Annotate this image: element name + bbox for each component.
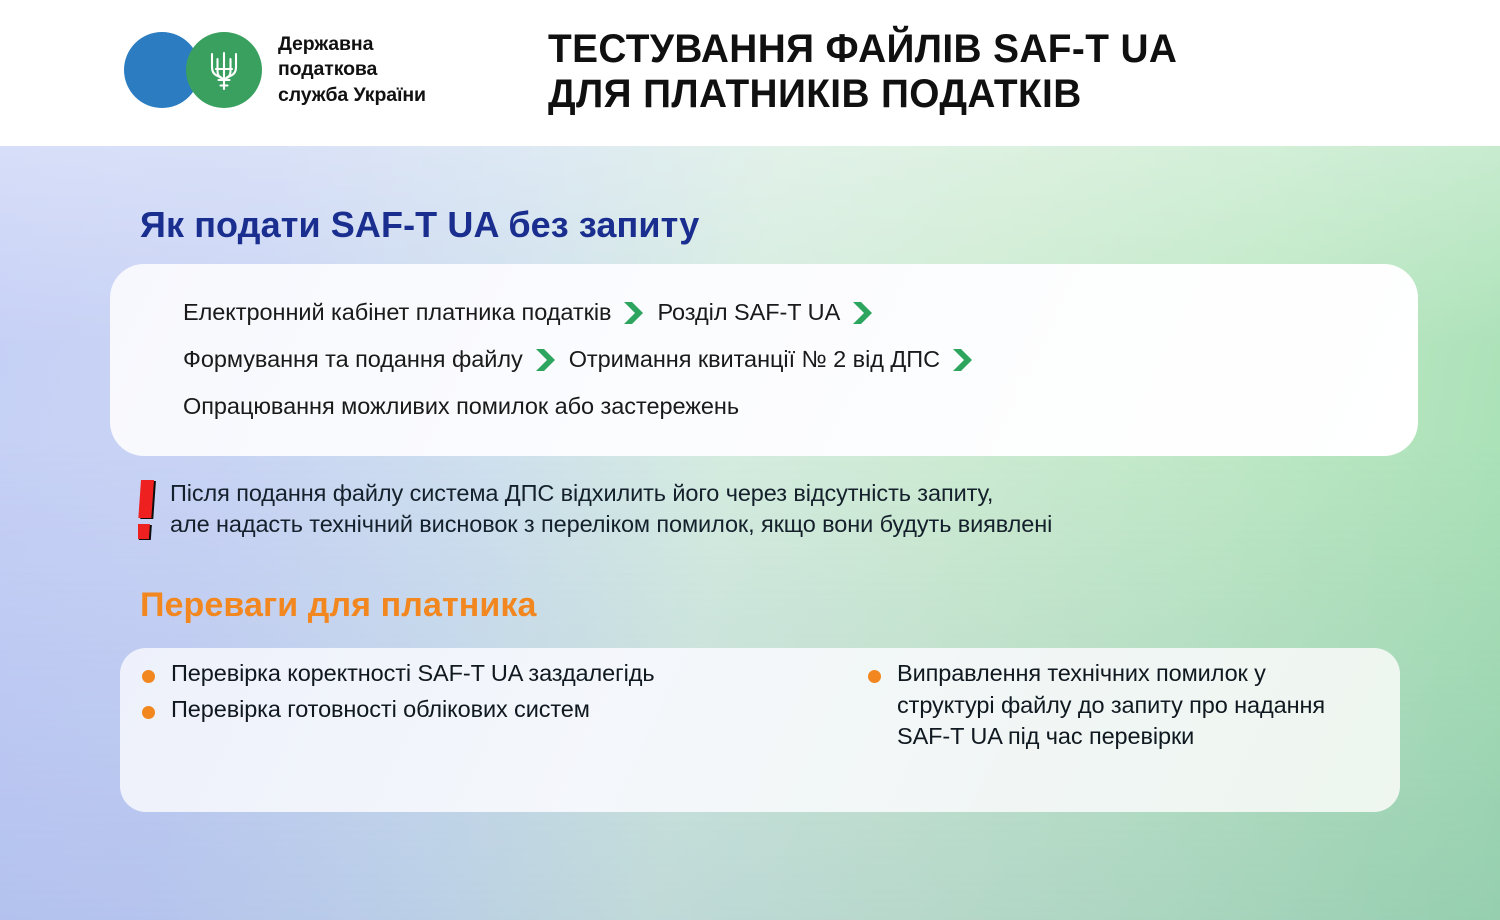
chevron-right-icon [533, 347, 559, 373]
benefits-left-column: Перевірка коректності SAF-T UA заздалегі… [142, 658, 760, 757]
step-row: Опрацювання можливих помилок або застере… [183, 383, 1398, 430]
exclamation-mark-icon [138, 480, 162, 547]
benefits-columns: Перевірка коректності SAF-T UA заздалегі… [142, 658, 1378, 757]
page-title: ТЕСТУВАННЯ ФАЙЛІВ SAF-T UA ДЛЯ ПЛАТНИКІВ… [548, 27, 1373, 117]
benefits-right-column: Виправлення технічних помилок у структур… [760, 658, 1378, 757]
logo-text-line1: Державна [278, 32, 426, 58]
logo-text: Державна податкова служба України [278, 32, 426, 109]
chevron-right-icon [621, 300, 647, 326]
dps-logo: Державна податкова служба України [124, 28, 426, 112]
steps-list: Електронний кабінет платника податків Ро… [183, 289, 1398, 430]
list-item-label: Виправлення технічних помилок у структур… [897, 658, 1360, 753]
logo-text-line2: податкова [278, 57, 426, 83]
steps-section-heading: Як подати SAF-T UA без запиту [140, 204, 699, 246]
chevron-right-icon [850, 300, 876, 326]
list-item: Перевірка готовності облікових систем [142, 694, 742, 726]
warning-note: Після подання файлу система ДПС відхилит… [138, 478, 1398, 547]
benefits-section-heading: Переваги для платника [140, 586, 537, 625]
list-item-label: Перевірка готовності облікових систем [171, 694, 590, 726]
warning-line1: Після подання файлу система ДПС відхилит… [170, 478, 1052, 509]
step-text: Розділ SAF-T UA [657, 299, 840, 326]
bullet-dot-icon [142, 670, 155, 683]
infographic-root: Державна податкова служба України ТЕСТУВ… [0, 0, 1500, 920]
logo-circles [124, 28, 274, 112]
green-circle-trident-icon [186, 32, 262, 108]
page-title-line1: ТЕСТУВАННЯ ФАЙЛІВ SAF-T UA [548, 27, 1373, 72]
benefits-card: Перевірка коректності SAF-T UA заздалегі… [120, 648, 1400, 812]
page-title-line2: ДЛЯ ПЛАТНИКІВ ПОДАТКІВ [548, 72, 1373, 117]
step-text: Опрацювання можливих помилок або застере… [183, 393, 739, 420]
list-item: Перевірка коректності SAF-T UA заздалегі… [142, 658, 742, 690]
chevron-right-icon [950, 347, 976, 373]
bullet-dot-icon [868, 670, 881, 683]
steps-card: Електронний кабінет платника податків Ро… [110, 264, 1418, 456]
list-item-label: Перевірка коректності SAF-T UA заздалегі… [171, 658, 654, 690]
step-text: Отримання квитанції № 2 від ДПС [569, 346, 940, 373]
list-item: Виправлення технічних помилок у структур… [868, 658, 1360, 753]
step-row: Формування та подання файлу Отримання кв… [183, 336, 1398, 383]
warning-line2: але надасть технічний висновок з перелік… [170, 509, 1052, 540]
step-text: Формування та подання файлу [183, 346, 523, 373]
warning-text: Після подання файлу система ДПС відхилит… [170, 478, 1052, 540]
header-band: Державна податкова служба України ТЕСТУВ… [0, 0, 1500, 146]
step-row: Електронний кабінет платника податків Ро… [183, 289, 1398, 336]
bullet-dot-icon [142, 706, 155, 719]
step-text: Електронний кабінет платника податків [183, 299, 611, 326]
logo-text-line3: служба України [278, 83, 426, 109]
